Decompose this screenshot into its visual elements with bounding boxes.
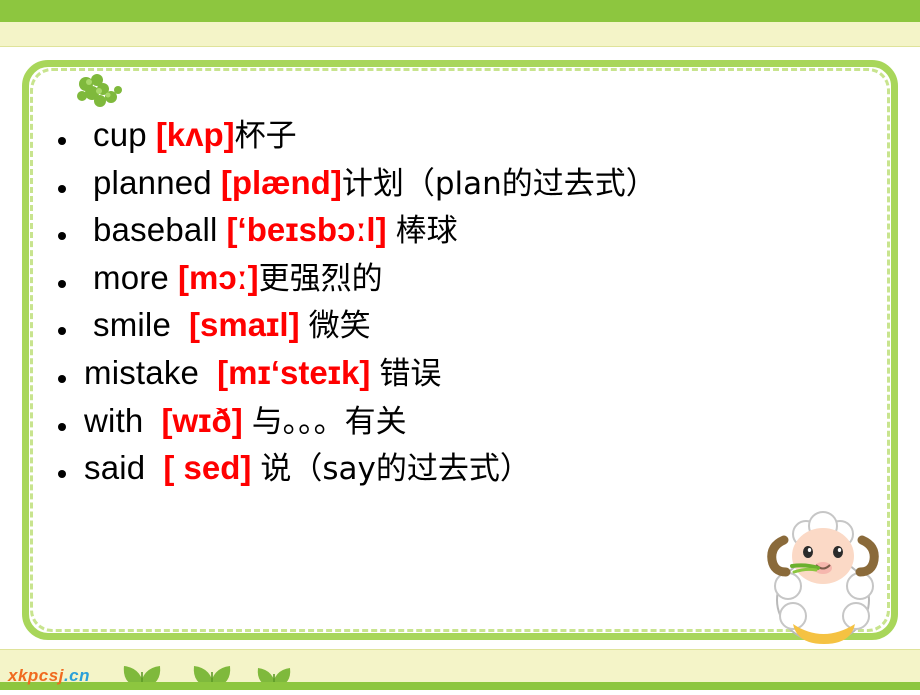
list-item: planned[plænd]计划（plan的过去式） (36, 166, 866, 201)
list-item: smile[smaɪl]微笑 (36, 308, 866, 343)
vocabulary-list: cup[kʌp]杯子 planned[plænd]计划（plan的过去式） ba… (36, 118, 866, 499)
ipa-text: [plænd] (221, 164, 342, 201)
list-item: with[wɪð]与。。。有关 (36, 404, 866, 439)
word-text: cup (93, 116, 147, 153)
sheep-icon (748, 488, 898, 648)
meaning-text: 错误 (379, 356, 441, 392)
meaning-text: 杯子 (235, 118, 297, 154)
word-text: baseball (93, 211, 218, 248)
word-text: said (84, 449, 145, 486)
bottom-green-band (0, 682, 920, 690)
watermark: xkpcsj.cn (8, 666, 90, 686)
list-item: mistake[mɪ‘steɪk]错误 (36, 356, 866, 391)
top-green-band (0, 0, 920, 22)
ipa-text: [kʌp] (156, 116, 235, 153)
watermark-suffix: .cn (64, 666, 90, 685)
ipa-text: [ sed] (163, 449, 251, 486)
ipa-text: [wɪð] (162, 402, 243, 439)
meaning-text: 计划（plan的过去式） (342, 166, 657, 202)
ipa-text: [mɔː] (178, 259, 259, 296)
meaning-text: 更强烈的 (259, 261, 383, 297)
word-text: mistake (84, 354, 199, 391)
list-item: cup[kʌp]杯子 (36, 118, 866, 153)
word-text: planned (93, 164, 212, 201)
list-item: more[mɔː]更强烈的 (36, 261, 866, 296)
meaning-text: 微笑 (309, 308, 371, 344)
word-text: with (84, 402, 144, 439)
meaning-text: 棒球 (396, 213, 458, 249)
list-item: said[ sed]说（say的过去式） (36, 451, 866, 486)
slide: cup[kʌp]杯子 planned[plænd]计划（plan的过去式） ba… (0, 0, 920, 690)
list-item: baseball[‘beɪsbɔːl]棒球 (36, 213, 866, 248)
meaning-text: 说（say的过去式） (260, 451, 531, 487)
watermark-main: xkpcsj (8, 666, 64, 685)
ipa-text: [mɪ‘steɪk] (217, 354, 370, 391)
ipa-text: [‘beɪsbɔːl] (227, 211, 387, 248)
word-text: more (93, 259, 169, 296)
word-text: smile (93, 306, 171, 343)
ipa-text: [smaɪl] (189, 306, 300, 343)
top-cream-band (0, 22, 920, 47)
clover-icon (70, 72, 126, 116)
meaning-text: 与。。。有关 (252, 404, 407, 440)
